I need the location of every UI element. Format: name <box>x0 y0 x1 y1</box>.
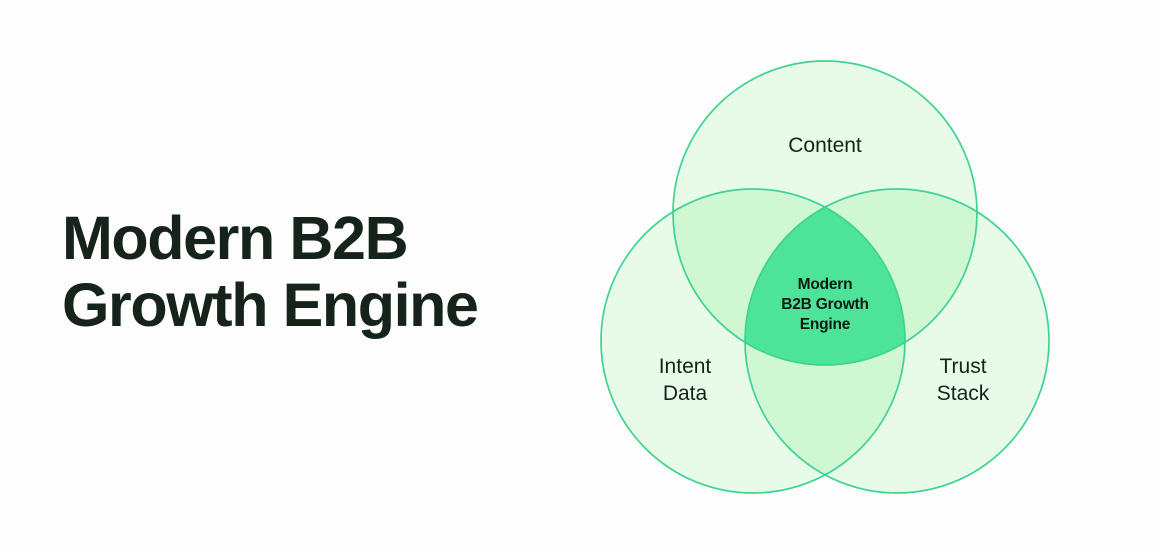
venn-label-intent-data-line-1: Intent <box>659 355 712 378</box>
venn-diagram-svg: Content Intent Data Trust Stack Modern B… <box>581 33 1069 521</box>
page-title-line-2: Growth Engine <box>62 272 582 339</box>
page-title-line-1: Modern B2B <box>62 205 582 272</box>
venn-label-center-line-3: Engine <box>800 316 851 333</box>
venn-label-center-line-2: B2B Growth <box>781 296 869 313</box>
page-title: Modern B2B Growth Engine <box>62 205 582 339</box>
venn-label-content: Content <box>788 134 862 157</box>
venn-label-trust-stack-line-1: Trust <box>939 355 986 378</box>
venn-label-trust-stack-line-2: Stack <box>937 382 990 405</box>
page-root: Modern B2B Growth Engine <box>0 0 1161 552</box>
venn-label-intent-data-line-2: Data <box>663 382 708 405</box>
venn-diagram: Content Intent Data Trust Stack Modern B… <box>581 33 1069 521</box>
venn-label-center-line-1: Modern <box>798 276 853 293</box>
